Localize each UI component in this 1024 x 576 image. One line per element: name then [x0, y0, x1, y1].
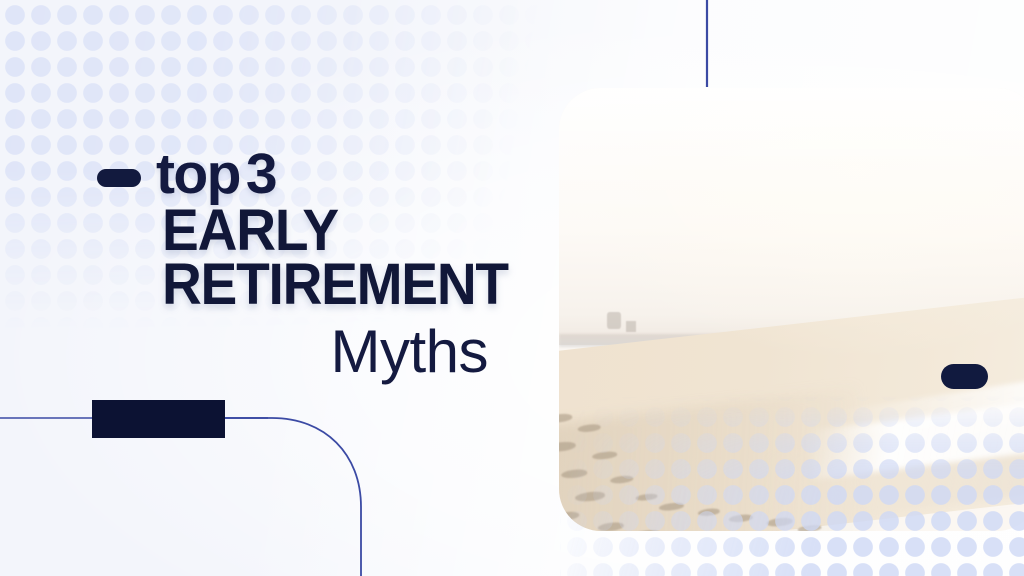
headline-line-myths: Myths	[156, 323, 576, 381]
headline-number: 3	[246, 142, 276, 206]
dash-accent-icon	[97, 169, 141, 187]
beach-photo	[559, 88, 1024, 531]
photo-top-fade	[559, 88, 1024, 239]
rectangle-accent	[92, 400, 225, 438]
headline-line-early: EARLY	[162, 204, 555, 257]
photo-card	[559, 88, 1024, 531]
pill-accent-icon	[941, 364, 988, 389]
curved-corner-line-icon	[225, 418, 361, 576]
headline-block: top3 EARLY RETIREMENT Myths	[156, 146, 576, 381]
slide-canvas: top3 EARLY RETIREMENT Myths	[0, 0, 1024, 576]
headline-line-top3: top3	[156, 146, 576, 202]
headline-line-retirement: RETIREMENT	[162, 257, 555, 313]
headline-top-word: top	[156, 142, 240, 206]
